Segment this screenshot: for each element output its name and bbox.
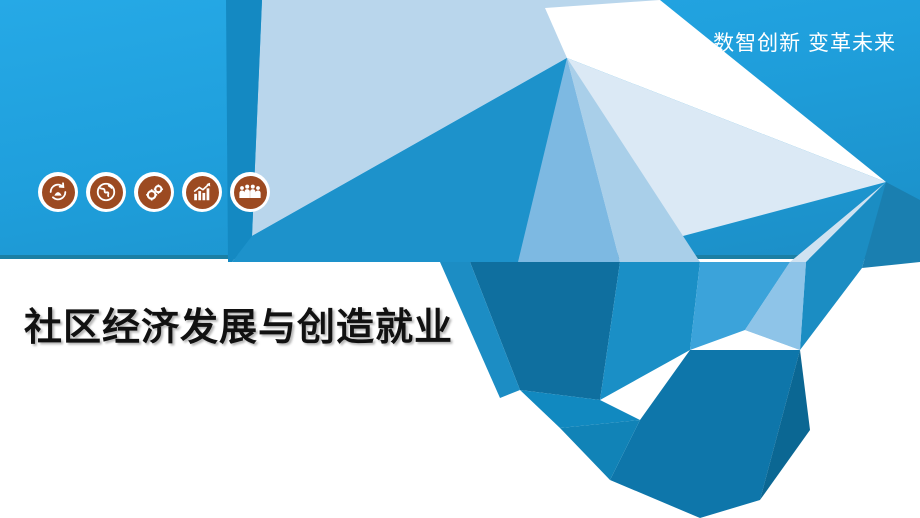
icon-badge-globe[interactable] xyxy=(86,172,126,212)
slide-title: 社区经济发展与创造就业 xyxy=(24,296,453,351)
globe-icon xyxy=(90,176,123,209)
bar-chart-growth-icon xyxy=(186,176,219,209)
polygon-artwork xyxy=(0,0,920,518)
recycle-growth-icon xyxy=(42,176,75,209)
icon-badge-recycle-growth[interactable] xyxy=(38,172,78,212)
icon-badge-bar-chart-growth[interactable] xyxy=(182,172,222,212)
icon-badge-people-group[interactable] xyxy=(230,172,270,212)
gears-icon xyxy=(138,176,171,209)
icon-row xyxy=(38,172,270,212)
presentation-slide: 数智创新 变革未来 xyxy=(0,0,920,518)
icon-badge-gears[interactable] xyxy=(134,172,174,212)
people-group-icon xyxy=(234,176,267,209)
slide-tagline: 数智创新 变革未来 xyxy=(713,27,896,57)
